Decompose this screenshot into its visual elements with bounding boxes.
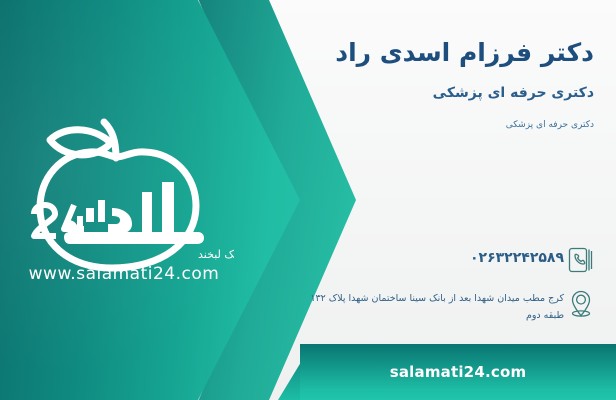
doctor-info: دکتر فرزام اسدی راد دکتری حرفه ای پزشکی … bbox=[212, 38, 594, 131]
contact-row-phone: ۰۲۶۳۲۲۴۲۵۸۹ bbox=[206, 243, 598, 277]
doctor-specialty-secondary: دکتری حرفه ای پزشکی bbox=[212, 120, 594, 132]
map-pin-icon bbox=[564, 287, 598, 321]
phone-book-icon bbox=[564, 243, 598, 277]
logo-url: www.salamati24.com bbox=[29, 264, 220, 284]
doctor-specialty: دکتری حرفه ای پزشکی bbox=[212, 85, 594, 103]
contact-block: ۰۲۶۳۲۲۴۲۵۸۹ کرج مطب میدان شهدا بعد از با… bbox=[206, 243, 598, 334]
business-card: براحتی یک لبخند www.salamati24.com دکتر … bbox=[0, 0, 616, 400]
footer-bar: salamati24.com bbox=[300, 344, 616, 400]
salamati24-logo: براحتی یک لبخند www.salamati24.com bbox=[12, 96, 234, 286]
contact-row-address: کرج مطب میدان شهدا بعد از بانک سینا ساخت… bbox=[206, 287, 598, 324]
address-line-1: کرج مطب میدان شهدا بعد از بانک سینا ساخت… bbox=[210, 291, 564, 308]
footer-website-url: salamati24.com bbox=[390, 363, 527, 381]
doctor-name: دکتر فرزام اسدی راد bbox=[212, 38, 594, 68]
address-line-2: طبقه دوم bbox=[210, 308, 564, 325]
phone-number: ۰۲۶۳۲۲۴۲۵۸۹ bbox=[210, 247, 564, 266]
